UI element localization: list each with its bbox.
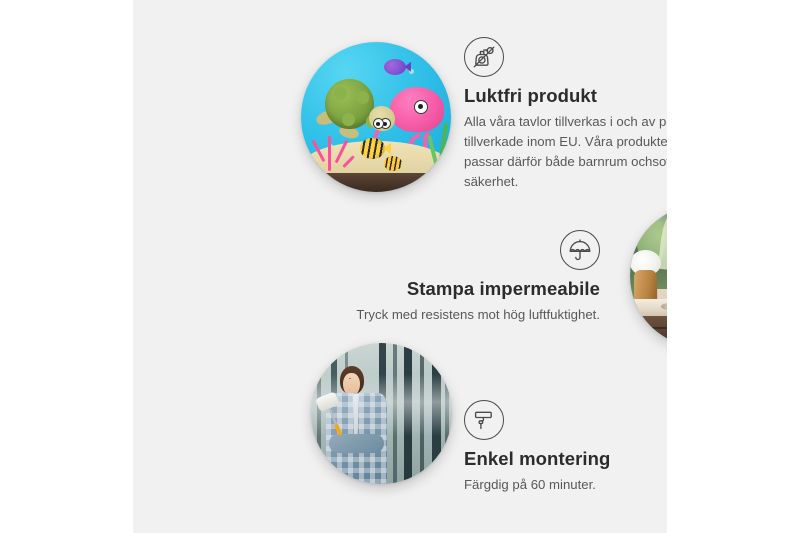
coral-branch (342, 155, 355, 168)
feature-description: Tryck med resistens mot hög luftfuktighe… (338, 305, 600, 325)
coral-branch (335, 140, 348, 164)
purple-fish-icon (384, 59, 407, 76)
icon-wrapper (464, 37, 667, 77)
feature-title: Stampa impermeabile (338, 277, 600, 300)
content-panel: Luktfri produkt Alla våra tavlor tillver… (133, 0, 667, 533)
woman-illustration (319, 366, 398, 484)
icon-wrapper (464, 400, 667, 440)
cabinet-seam (641, 327, 667, 329)
underwater-cartoon-image (301, 42, 451, 192)
forest-wallpaper-image (311, 343, 452, 484)
feature-block-waterproof: Stampa impermeabile Tryck med resistens … (338, 230, 600, 325)
icon-wrapper (338, 230, 600, 270)
turtle-head (369, 106, 396, 131)
feature-title: Enkel montering (464, 447, 667, 470)
coral-illustration (309, 123, 354, 171)
umbrella-icon (560, 230, 600, 270)
crossed-arms (329, 434, 384, 453)
vanity-cabinet (641, 316, 667, 347)
feature-description: Alla våra tavlor tillverkas i och av pro… (464, 112, 667, 192)
feature-block-odourless: Luktfri produkt Alla våra tavlor tillver… (464, 37, 667, 192)
feature-description: Färgdig på 60 minuter. (464, 475, 667, 495)
sea-floor-shadow (301, 173, 451, 193)
octopus-head (390, 87, 444, 132)
yellow-fish-icon (360, 138, 386, 159)
paint-roller-icon (464, 400, 504, 440)
bathroom-wallpaper-image (630, 205, 667, 347)
octopus-eye (414, 100, 428, 114)
no-fragrance-icon (464, 37, 504, 77)
screenshot-root: Luktfri produkt Alla våra tavlor tillver… (0, 0, 800, 533)
feature-block-mounting: Enkel montering Färgdig på 60 minuter. (464, 400, 667, 495)
feature-title: Luktfri produkt (464, 84, 667, 107)
smile-shape (349, 377, 351, 379)
turtle-shell (325, 79, 373, 129)
coral-branch (328, 136, 331, 171)
yellow-fish-icon (384, 156, 402, 171)
